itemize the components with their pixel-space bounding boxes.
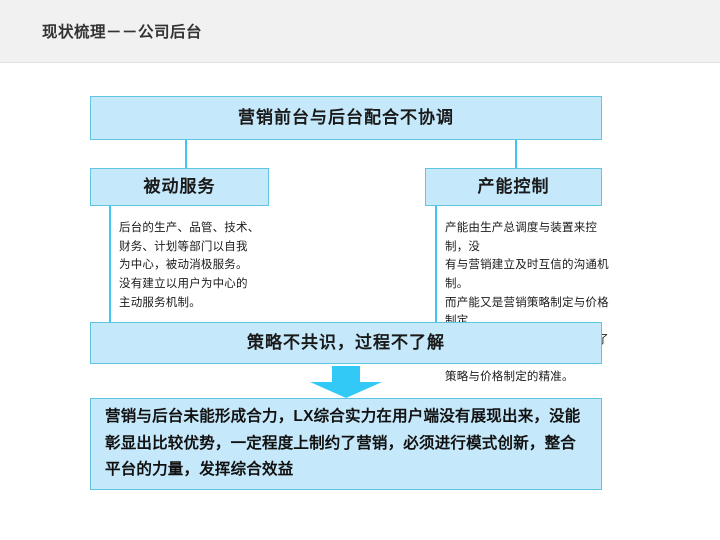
flow-box-conclusion-text: 营销与后台未能形成合力，LX综合实力在用户端没有展现出来，没能彰显出比较优势，一… xyxy=(105,404,587,484)
flow-box-top[interactable]: 营销前台与后台配合不协调 xyxy=(90,96,602,140)
connector-right-branch-to-middle xyxy=(435,206,437,322)
connector-left-branch-to-middle xyxy=(109,206,111,322)
flow-box-middle-label: 策略不共识，过程不了解 xyxy=(247,333,445,353)
arrow-down-icon xyxy=(310,366,382,398)
connector-top-to-right xyxy=(515,140,517,168)
page-title: 现状梳理－－公司后台 xyxy=(42,20,202,42)
slide-canvas: 现状梳理－－公司后台 营销前台与后台配合不协调 被动服务 产能控制 后台的生产、… xyxy=(0,0,720,540)
flow-box-branch-left[interactable]: 被动服务 xyxy=(90,168,269,206)
connector-top-to-left xyxy=(185,140,187,168)
flow-box-middle[interactable]: 策略不共识，过程不了解 xyxy=(90,322,602,364)
branch-left-description: 后台的生产、品管、技术、 财务、计划等部门以自我 为中心，被动消极服务。 没有建… xyxy=(119,219,304,312)
flow-box-branch-right-label: 产能控制 xyxy=(478,177,550,197)
flow-box-conclusion[interactable]: 营销与后台未能形成合力，LX综合实力在用户端没有展现出来，没能彰显出比较优势，一… xyxy=(90,398,602,490)
flow-box-branch-left-label: 被动服务 xyxy=(144,177,216,197)
flow-box-branch-right[interactable]: 产能控制 xyxy=(425,168,602,206)
flow-box-top-label: 营销前台与后台配合不协调 xyxy=(238,108,454,128)
